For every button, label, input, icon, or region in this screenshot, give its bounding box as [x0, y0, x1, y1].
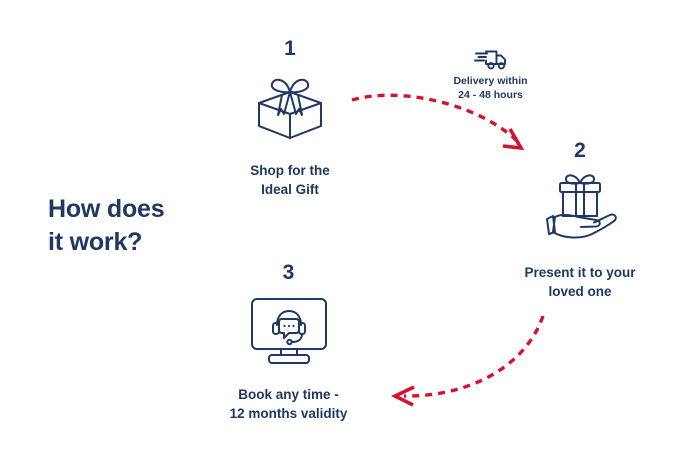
page-title: How does it work? — [48, 193, 238, 259]
step-3-caption-line-1: Book any time - — [207, 385, 370, 404]
delivery-note-line-2: 24 - 48 hours — [433, 89, 548, 103]
gift-box-icon — [210, 65, 370, 149]
delivery-truck-icon — [433, 46, 548, 72]
step-2: 2 Present it — [500, 140, 660, 301]
page-title-line-2: it work? — [48, 226, 238, 259]
arrow-step2-to-step3 — [395, 316, 543, 405]
delivery-note-text: Delivery within 24 - 48 hours — [433, 75, 548, 103]
step-1: 1 Shop for the Ideal Gift — [210, 38, 370, 199]
step-1-caption-line-2: Ideal Gift — [210, 180, 370, 199]
step-2-caption-line-1: Present it to your — [500, 263, 660, 282]
step-3-caption: Book any time - 12 months validity — [207, 385, 370, 423]
step-3-number: 3 — [207, 262, 370, 283]
step-2-caption-line-2: loved one — [500, 282, 660, 301]
hand-holding-gift-icon — [500, 167, 660, 251]
step-1-caption-line-1: Shop for the — [210, 161, 370, 180]
step-2-caption: Present it to your loved one — [500, 263, 660, 301]
how-it-works-infographic: How does it work? 1 Shop for t — [0, 0, 700, 457]
step-1-caption: Shop for the Ideal Gift — [210, 161, 370, 199]
step-2-number: 2 — [500, 140, 660, 161]
arrow-step1-to-step2 — [352, 95, 521, 148]
monitor-support-chat-icon — [207, 289, 370, 373]
step-1-number: 1 — [210, 38, 370, 59]
step-3: 3 — [207, 262, 370, 423]
delivery-note: Delivery within 24 - 48 hours — [433, 46, 548, 103]
step-3-caption-line-2: 12 months validity — [207, 404, 370, 423]
delivery-note-line-1: Delivery within — [433, 75, 548, 89]
